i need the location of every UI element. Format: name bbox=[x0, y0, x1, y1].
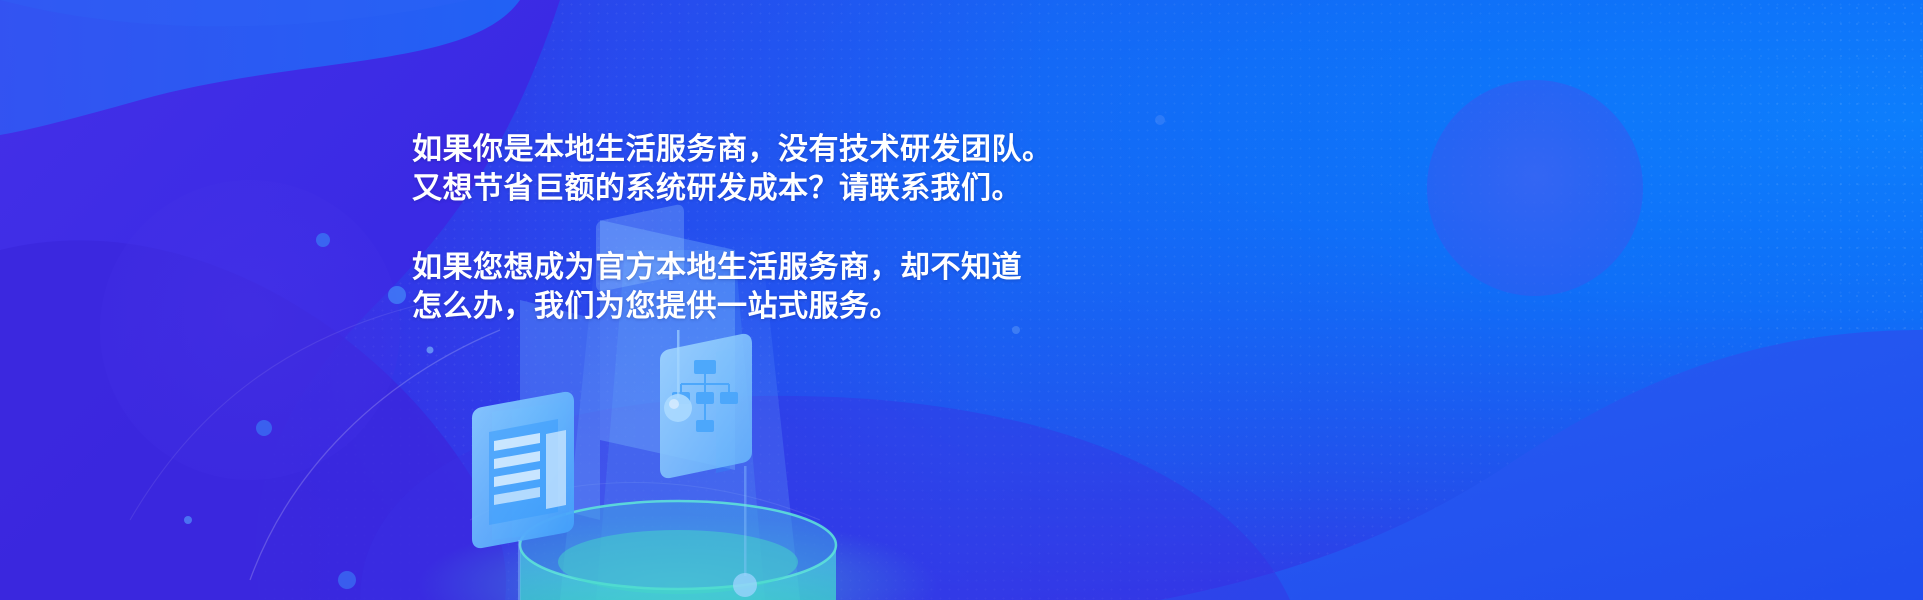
card-stem bbox=[518, 540, 521, 600]
paragraph-2-line-2: 怎么办，我们为您提供一站式服务。 bbox=[412, 287, 1072, 326]
paragraph-1-line-2: 又想节省巨额的系统研发成本？请联系我们。 bbox=[412, 169, 1072, 208]
card-side-block bbox=[546, 430, 566, 509]
paragraph-1-line-1: 如果你是本地生活服务商，没有技术研发团队。 bbox=[412, 130, 1072, 169]
paragraph-1: 如果你是本地生活服务商，没有技术研发团队。 又想节省巨额的系统研发成本？请联系我… bbox=[412, 130, 1072, 208]
paragraph-2-line-1: 如果您想成为官方本地生活服务商，却不知道 bbox=[412, 248, 1072, 287]
pendant-ball bbox=[733, 573, 757, 597]
headline-copy: 如果你是本地生活服务商，没有技术研发团队。 又想节省巨额的系统研发成本？请联系我… bbox=[412, 130, 1072, 326]
paragraph-2: 如果您想成为官方本地生活服务商，却不知道 怎么办，我们为您提供一站式服务。 bbox=[412, 248, 1072, 326]
hero-banner: 如果你是本地生活服务商，没有技术研发团队。 又想节省巨额的系统研发成本？请联系我… bbox=[0, 0, 1923, 600]
card-stem bbox=[744, 466, 747, 576]
